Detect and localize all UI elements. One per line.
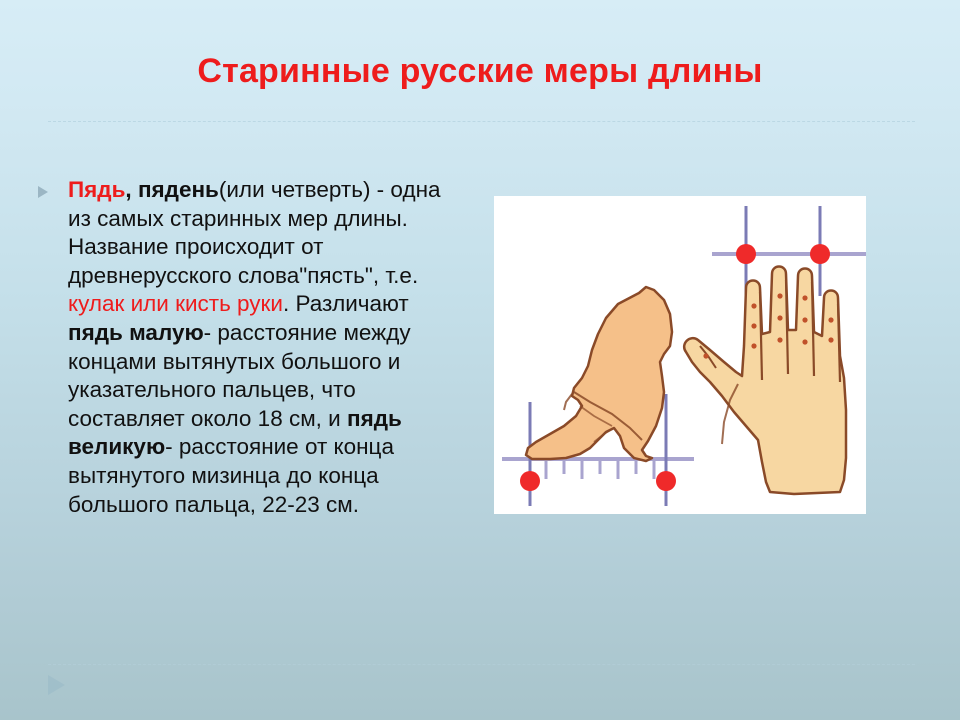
text-segment-4: кулак или кисть руки xyxy=(68,291,283,316)
next-slide-arrow-icon[interactable] xyxy=(48,675,65,695)
span-endpoint-marker-left xyxy=(520,471,540,491)
hand-span-measurement-illustration xyxy=(494,196,866,514)
text-segment-6: пядь малую xyxy=(68,320,204,345)
bullet-item-text: Пядь, пядень(или четверть) - одна из сам… xyxy=(68,176,460,519)
hand-span-illustration-svg xyxy=(494,196,866,514)
text-segment-0: Пядь xyxy=(68,177,125,202)
slide-canvas: Старинные русские меры длины Пядь, пяден… xyxy=(0,0,960,720)
span-endpoint-marker-pinky xyxy=(736,244,756,264)
text-segment-5: . Различают xyxy=(283,291,409,316)
page-title: Старинные русские меры длины xyxy=(0,50,960,92)
bottom-divider xyxy=(48,664,915,665)
content-placeholder: Пядь, пядень(или четверть) - одна из сам… xyxy=(30,176,460,519)
span-endpoint-marker-right xyxy=(656,471,676,491)
title-divider xyxy=(48,121,915,122)
text-segment-2: пядень xyxy=(138,177,219,202)
text-segment-1: , xyxy=(125,177,138,202)
bullet-list-item: Пядь, пядень(или четверть) - одна из сам… xyxy=(30,176,460,519)
span-endpoint-marker-thumb xyxy=(810,244,830,264)
bullet-triangle-icon xyxy=(38,186,48,198)
